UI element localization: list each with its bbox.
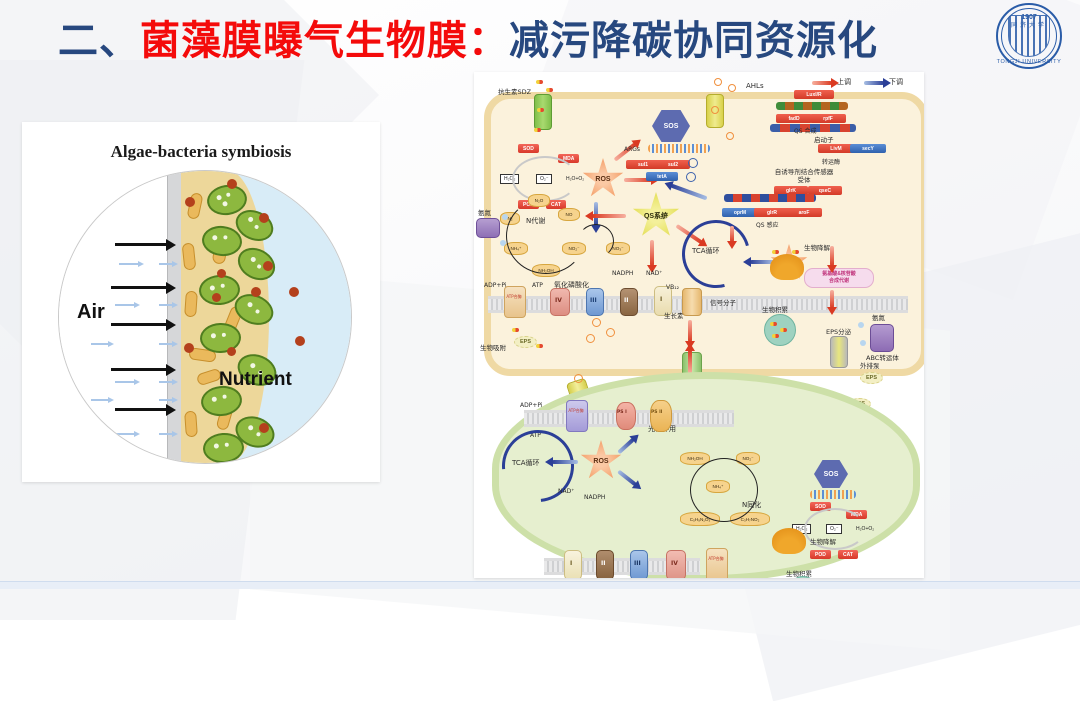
eps-secretion-channel-bacteria: [830, 336, 848, 368]
ammonium-ion-icon: [500, 240, 506, 246]
ammonia-label-bacteria: 氨氮: [478, 207, 491, 217]
signal-molecule-icon: [586, 334, 595, 343]
nutrient-particle: [217, 269, 226, 278]
bacteria-cell: [184, 411, 198, 438]
livm-gene: LivM: [818, 144, 854, 153]
antibiotic-molecule-icon: [534, 128, 541, 132]
exchange-down-arrow: [688, 320, 692, 342]
args-label: ARGs: [624, 146, 640, 153]
o2-diffusion-arrow: [159, 263, 173, 265]
nutrient-particle: [185, 197, 195, 207]
nad-label-algae: NAD⁺: [558, 488, 574, 495]
legend-upregulate-arrow-icon: [812, 81, 832, 85]
ammonia-transporter-bacteria: [476, 218, 500, 238]
fadd-gene: fadD: [776, 114, 812, 123]
nutrient-particle: [227, 179, 237, 189]
algae-dna-icon: [810, 490, 856, 499]
symbiosis-circle-diagram: Air Nutrient: [58, 170, 352, 464]
eps-blob-interface: EPS: [514, 336, 537, 348]
secy-gene: secY: [850, 144, 886, 153]
degradation-enzyme-icon-algae: [772, 528, 806, 554]
ammonium-ion-icon: [502, 214, 508, 220]
sdz-transport-channel: [534, 94, 552, 130]
left-figure-title: Algae-bacteria symbiosis: [22, 142, 380, 162]
nutrient-particle: [259, 213, 269, 223]
nutrient-particle: [263, 261, 273, 271]
logo-boat-emblem: [1008, 15, 1050, 57]
to-amino-nucleotide-arrow: [830, 246, 834, 266]
nutrient-particle: [251, 287, 261, 297]
air-zone: [59, 171, 167, 463]
pod-enzyme-algae: POD: [810, 550, 831, 559]
exchange-channel-upper: [682, 288, 702, 316]
vb12-label: VB₁₂: [666, 284, 679, 291]
ahls-label: AHLs: [746, 82, 764, 90]
complex-iii-label-bacteria: III: [590, 297, 597, 304]
auxin-label: 生长素: [664, 310, 684, 320]
eps-blob-bacteria: EPS: [860, 372, 883, 384]
args-dna-icon: [648, 144, 710, 153]
atp-synthase-label-bacteria: ATP合酶: [506, 294, 522, 299]
o2-diffusion-arrow: [159, 304, 173, 306]
bacteria-cell: [184, 291, 198, 318]
legend-downregulate-label: 下调: [889, 77, 903, 87]
nutrient-label: Nutrient: [219, 369, 292, 391]
qs-response-operon-icon: [724, 194, 816, 202]
sul1-gene: sul1: [626, 160, 660, 169]
ahl-molecule-icon: [714, 78, 722, 86]
amino-nucleotide-box-bacteria: 氨基酸&核苷酸合成代谢: [804, 268, 874, 288]
o2-diffusion-arrow: [91, 399, 109, 401]
atp-synthase-algae-top: [566, 400, 588, 432]
complex-iv-label-bacteria: IV: [555, 297, 562, 304]
o2-diffusion-arrow: [159, 399, 173, 401]
biosorption-label-interface: 生物吸附: [480, 342, 506, 352]
nad-label-bacteria: NAD⁺: [646, 270, 662, 277]
air-flow-arrow: [111, 368, 167, 371]
complex-i-label-bacteria: I: [660, 296, 662, 303]
autoinducer-receptor-label: 自诱导剂结合传感器受体: [774, 168, 834, 184]
luxir-regulator: LuxI/R: [794, 90, 834, 99]
antibiotic-molecule-icon: [537, 108, 544, 112]
ahl-molecule-icon: [726, 132, 734, 140]
qs-synthesis-operon-icon: [776, 102, 848, 110]
qs-synthesis-label: QS 合成: [794, 126, 816, 135]
complex-ii-label-bacteria: II: [624, 297, 628, 304]
complex-ii-bacteria: [620, 288, 638, 316]
teta-gene: tetA: [646, 172, 678, 181]
slide-header: 二、菌藻膜曝气生物膜：减污降碳协同资源化 同济大学 1907 TONGJI UN…: [0, 0, 1080, 72]
complex-ii-label-algae: II: [601, 560, 605, 567]
ahl-molecule-icon: [711, 106, 719, 114]
bottom-accent-line: [0, 581, 1080, 589]
antibiotic-sdz-label: 抗生素SDZ: [498, 86, 531, 96]
air-flow-arrow: [115, 408, 167, 411]
o2-diffusion-arrow: [159, 343, 173, 345]
sod-enzyme-bacteria: SOD: [518, 144, 539, 153]
sorbed-antibiotic-icon: [536, 344, 543, 348]
algae-bacteria-symbiosis-figure: Algae-bacteria symbiosis: [22, 122, 380, 482]
antibiotic-molecule-icon: [546, 88, 553, 92]
qs-down-arrow: [650, 240, 654, 266]
cat-enzyme-algae: CAT: [838, 550, 858, 559]
nadph-label-bacteria: NADPH: [612, 270, 633, 277]
o2-diffusion-arrow: [119, 263, 139, 265]
n-assimilation-ring: [690, 458, 758, 522]
atp-synthase-label-algae-bottom: ATP合酶: [708, 556, 724, 561]
complex-iii-label-algae: III: [634, 560, 641, 567]
substrate-molecule-icon: [772, 250, 779, 254]
biodegradation-label-algae-right: 生物降解: [810, 536, 836, 546]
o2-diffusion-arrow: [159, 381, 173, 383]
atp-synthase-label-algae-top: ATP合酶: [568, 408, 584, 413]
amino-to-bioaccum-arrow: [830, 290, 834, 308]
ros-to-tca-algae-arrow: [552, 460, 578, 464]
title-part-index: 二、: [58, 8, 140, 66]
nutrient-particle: [184, 343, 194, 353]
to-biodegradation-arrow: [730, 226, 734, 242]
promoter-label: 启动子: [814, 134, 834, 144]
qs-response-label: QS 感应: [756, 220, 778, 229]
sul2-gene: sul2: [656, 160, 690, 169]
antibiotic-molecule-icon: [536, 80, 543, 84]
nutrient-particle: [295, 336, 305, 346]
bioaccumulation-label-bacteria: 生物积累: [762, 304, 788, 314]
oprm-gene: oprM: [722, 208, 758, 217]
degradation-enzyme-icon: [770, 254, 804, 280]
photosystem-ii-label: PS II: [651, 410, 662, 415]
title-part-tail: 减污降碳协同资源化: [509, 8, 878, 66]
tca-label-bacteria: TCA循环: [692, 246, 720, 256]
ammonium-ion-icon: [860, 340, 866, 346]
adp-label-algae-top: ADP+Pi: [520, 402, 543, 409]
signal-molecule-icon: [574, 374, 583, 383]
o2-diffusion-arrow: [115, 433, 135, 435]
photosystem-i-icon: [616, 402, 636, 430]
ammonium-ion-icon: [858, 322, 864, 328]
o2-diffusion-arrow: [115, 304, 135, 306]
air-flow-arrow: [111, 286, 167, 289]
plasmid-icon: [688, 158, 698, 168]
plasmid-icon: [686, 172, 696, 182]
transporter-label: 转运酶: [822, 157, 840, 166]
title-part-highlight: 菌藻膜曝气生物膜：: [140, 8, 509, 66]
atp-label-bacteria: ATP: [532, 282, 543, 289]
abc-transporter-icon: [870, 324, 894, 352]
substrate-molecule-icon: [792, 250, 799, 254]
legend-upregulate-label: 上调: [837, 77, 851, 87]
complex-i-algae: [564, 550, 582, 578]
n-cycle-ring-2: [578, 224, 614, 258]
adp-label-bacteria: ADP+Pi: [484, 282, 507, 289]
complex-i-label-algae: I: [570, 560, 572, 567]
biodegradation-label-bacteria: 生物降解: [804, 242, 830, 252]
o2-diffusion-arrow: [115, 381, 135, 383]
photosystem-i-label: PS I: [617, 410, 627, 415]
nutrient-particle: [259, 423, 269, 433]
nutrient-particle: [212, 293, 221, 302]
glrr-gene: glrR: [754, 208, 790, 217]
signal-molecule-icon: [606, 328, 615, 337]
logo-en-name: TONGJI UNIVERSITY: [996, 59, 1062, 65]
o2-diffusion-arrow: [159, 433, 173, 435]
o2-diffusion-arrow: [91, 343, 109, 345]
accumulated-antibiotic-icon: [772, 334, 779, 338]
tca-label-algae: TCA循环: [512, 458, 540, 468]
ammonia-label-interface: 氨氮: [872, 312, 885, 322]
signal-molecule-label: 信号分子: [710, 297, 736, 307]
sorbed-antibiotic-icon: [512, 328, 519, 332]
air-flow-arrow: [115, 243, 167, 246]
nutrient-particle: [227, 347, 236, 356]
qs-to-nmetab-arrow: [592, 214, 626, 218]
page-title: 二、菌藻膜曝气生物膜：减污降碳协同资源化: [58, 8, 878, 66]
arof-gene: aroF: [786, 208, 822, 217]
tongji-university-logo-icon: 同济大学 1907 TONGJI UNIVERSITY: [996, 3, 1062, 69]
nadph-label-algae: NADPH: [584, 494, 605, 501]
atp-synthase-algae-bottom: [706, 548, 728, 578]
air-flow-arrow: [111, 323, 167, 326]
rpff-gene: rpfF: [810, 114, 846, 123]
nutrient-particle: [289, 287, 299, 297]
efflux-pump-label-bacteria: 外排泵: [860, 360, 880, 370]
air-label: Air: [77, 301, 105, 324]
accumulated-antibiotic-icon: [780, 328, 787, 332]
n-cycle-ring: [506, 198, 586, 274]
atp-synthase-bacteria: [504, 286, 526, 318]
algae-bacteria-mechanism-diagram: 上调 下调 抗生素SDZ AHLs SOD MDA H₂O₂ O₂⁻ H₂O+O…: [474, 72, 924, 578]
exchange-up-arrow: [688, 350, 692, 374]
eps-secretion-label-bacteria: EPS分泌: [826, 326, 851, 336]
ahl-molecule-icon: [728, 84, 736, 92]
photosystem-ii-icon: [650, 400, 672, 432]
legend-downregulate-arrow-icon: [864, 81, 884, 85]
complex-iv-label-algae: IV: [671, 560, 678, 567]
accumulated-antibiotic-icon: [770, 322, 777, 326]
signal-molecule-icon: [592, 318, 601, 327]
